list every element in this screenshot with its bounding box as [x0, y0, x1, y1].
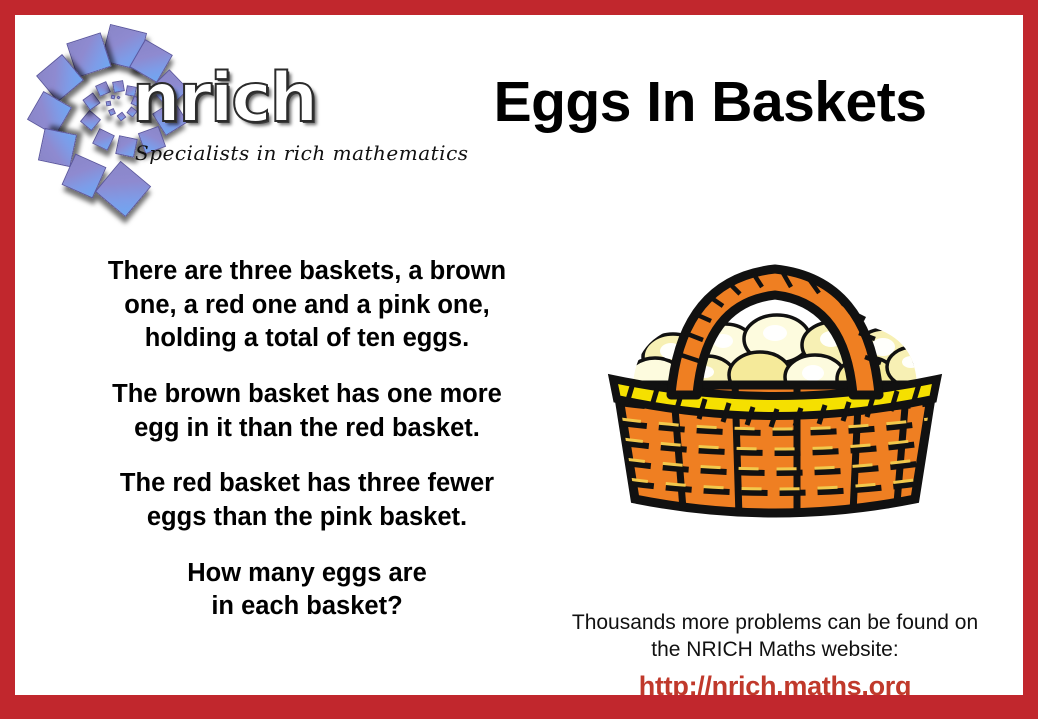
nrich-logo: nrich Specialists in rich mathematics [27, 23, 397, 223]
nrich-website-link[interactable]: http://nrich.maths.org [535, 671, 1015, 695]
page-title: Eggs In Baskets [415, 73, 1005, 133]
problem-paragraph-1: There are three baskets, a brown one, a … [37, 255, 577, 356]
poster: nrich Specialists in rich mathematics Eg… [0, 0, 1038, 719]
footer: Thousands more problems can be found on … [535, 610, 1015, 695]
problem-paragraph-2: The brown basket has one more egg in it … [37, 378, 577, 445]
basket-of-eggs-illustration [595, 227, 955, 547]
footer-promo-text: Thousands more problems can be found on … [535, 610, 1015, 664]
basket-of-eggs-icon [595, 227, 955, 547]
nrich-wordmark: nrich [132, 65, 316, 133]
poster-content-area: nrich Specialists in rich mathematics Eg… [15, 15, 1023, 695]
nrich-tagline: Specialists in rich mathematics [135, 141, 469, 165]
problem-question: How many eggs are in each basket? [37, 557, 577, 624]
problem-paragraph-3: The red basket has three fewer eggs than… [37, 467, 577, 534]
problem-statement: There are three baskets, a brown one, a … [37, 255, 577, 624]
